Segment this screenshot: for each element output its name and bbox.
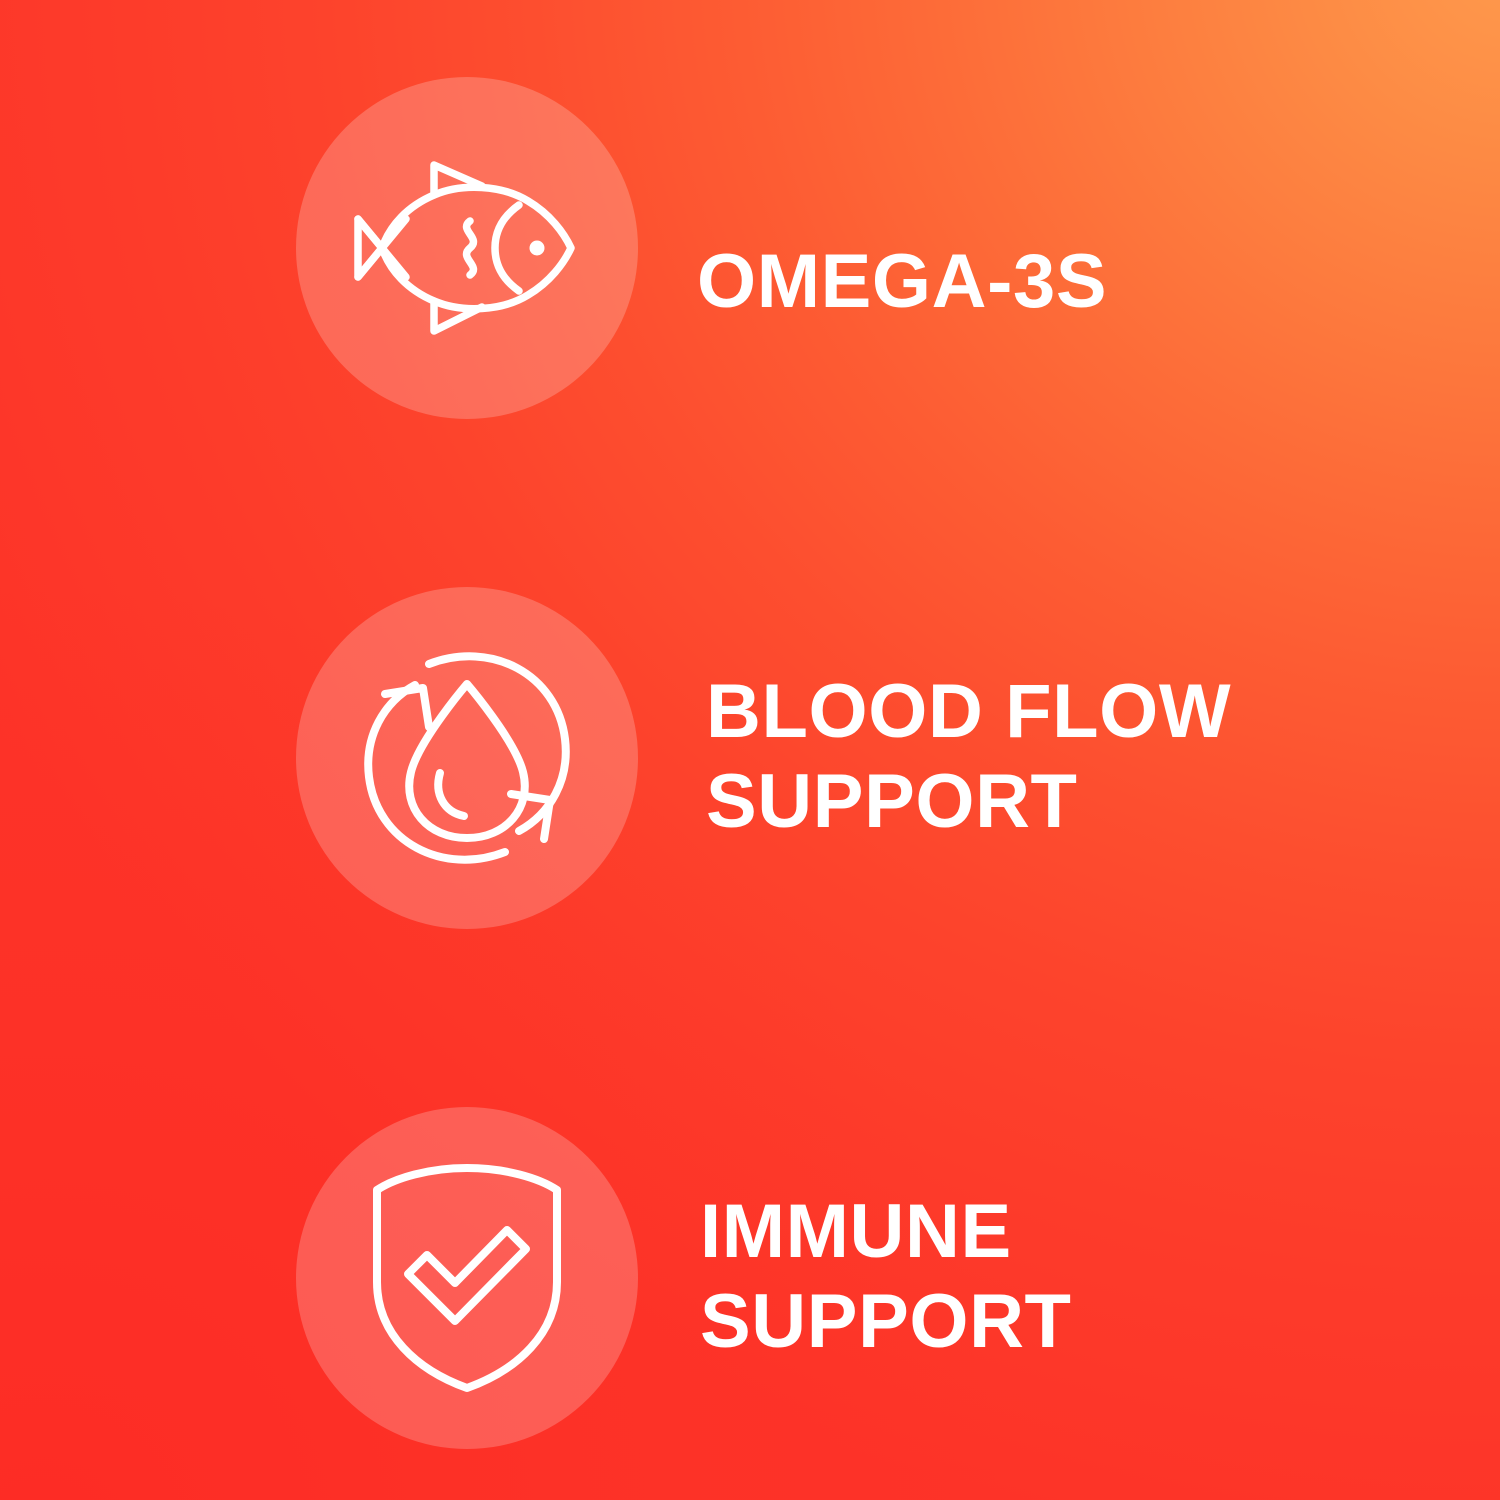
feature-item-blood-flow-support: BLOOD FLOW SUPPORT <box>0 587 1500 929</box>
shield-check-icon <box>369 1162 565 1394</box>
icon-badge-blood-flow <box>296 587 638 929</box>
feature-item-immune-support: IMMUNE SUPPORT <box>0 1107 1500 1449</box>
fish-icon <box>352 161 582 336</box>
feature-list: OMEGA-3S <box>0 0 1500 1500</box>
blood-drop-circulation-icon <box>351 642 583 874</box>
promo-benefits-graphic: OMEGA-3S <box>0 0 1500 1500</box>
feature-label-blood-flow-support: BLOOD FLOW SUPPORT <box>706 667 1231 846</box>
feature-label-omega-3s: OMEGA-3S <box>697 237 1107 327</box>
feature-item-omega-3s: OMEGA-3S <box>0 77 1500 419</box>
icon-badge-omega-3s <box>296 77 638 419</box>
feature-label-immune-support: IMMUNE SUPPORT <box>700 1187 1072 1366</box>
icon-badge-immune <box>296 1107 638 1449</box>
